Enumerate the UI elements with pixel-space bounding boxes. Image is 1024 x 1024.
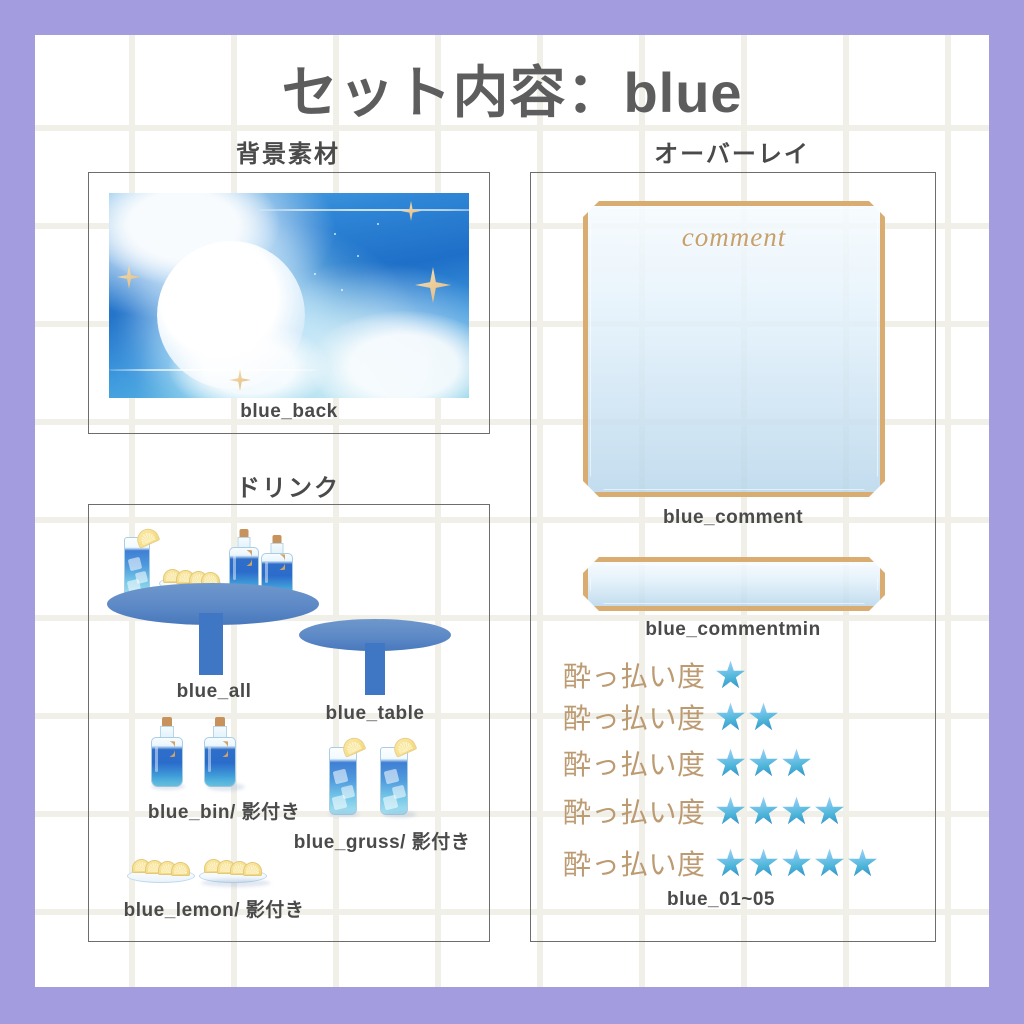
glass-icon <box>380 747 408 815</box>
rating-row-4: 酔っ払い度 <box>563 791 848 831</box>
wave-line <box>109 369 319 371</box>
rating-label: 酔っ払い度 <box>563 791 706 831</box>
sparkle-icon <box>401 201 421 221</box>
caption-blue-rating: blue_01~05 <box>591 889 851 911</box>
table-leg <box>365 643 385 695</box>
section-heading-drink: ドリンク <box>88 468 488 503</box>
poster-stage: セット内容：blue 背景素材 blue_back ドリンク <box>0 0 1024 1024</box>
cloud-shape <box>309 311 469 398</box>
sparkle-icon <box>415 267 451 303</box>
bottle-icon <box>151 717 183 787</box>
caption-blue-commentmin: blue_commentmin <box>531 619 935 641</box>
star-icon <box>782 748 812 778</box>
rating-label: 酔っ払い度 <box>563 655 706 695</box>
rating-row-2: 酔っ払い度 <box>563 697 782 737</box>
table-leg <box>199 613 223 675</box>
commentmin-box-inner-line <box>590 564 878 604</box>
lemon-plate-icon <box>127 857 195 883</box>
section-heading-background: 背景素材 <box>88 134 488 169</box>
star-icon <box>716 748 746 778</box>
star-icon <box>782 848 812 878</box>
rating-row-3: 酔っ払い度 <box>563 743 815 783</box>
caption-blue-comment: blue_comment <box>531 507 935 529</box>
rating-label: 酔っ払い度 <box>563 843 706 883</box>
star-icon <box>815 796 845 826</box>
caption-blue-all: blue_all <box>129 681 299 703</box>
caption-blue-lemon: blue_lemon/ 影付き <box>89 895 339 922</box>
star-icon <box>749 702 779 732</box>
star-icon <box>716 660 746 690</box>
star-icon <box>749 848 779 878</box>
rating-row-1: 酔っ払い度 <box>563 655 749 695</box>
blue-commentmin-box <box>583 557 885 611</box>
rating-label: 酔っ払い度 <box>563 697 706 737</box>
caption-blue-bin: blue_bin/ 影付き <box>99 797 349 824</box>
glass-icon <box>329 747 357 815</box>
star-icon <box>848 848 878 878</box>
star-icon <box>749 796 779 826</box>
star-icon <box>749 748 779 778</box>
wave-line <box>259 209 469 211</box>
rating-label: 酔っ払い度 <box>563 743 706 783</box>
blue-comment-box: comment <box>583 201 885 497</box>
star-icon <box>716 848 746 878</box>
star-icon <box>716 796 746 826</box>
comment-placeholder-text: comment <box>588 222 880 253</box>
panel-background: blue_back <box>88 172 490 434</box>
caption-blue-gruss: blue_gruss/ 影付き <box>257 827 507 854</box>
rating-row-5: 酔っ払い度 <box>563 843 881 883</box>
star-icon <box>815 848 845 878</box>
bottle-icon <box>204 717 236 787</box>
page-title: セット内容：blue <box>0 48 1024 129</box>
caption-blue-table: blue_table <box>287 703 463 725</box>
star-icon <box>716 702 746 732</box>
blue-back-artwork <box>109 193 469 398</box>
caption-blue-back: blue_back <box>89 401 489 423</box>
section-heading-overlay: オーバーレイ <box>530 134 934 169</box>
panel-drink: blue_all blue_table blue_bin/ 影付 <box>88 504 490 942</box>
star-icon <box>782 796 812 826</box>
panel-overlay: comment blue_comment blue_commentmin 酔っ払… <box>530 172 936 942</box>
